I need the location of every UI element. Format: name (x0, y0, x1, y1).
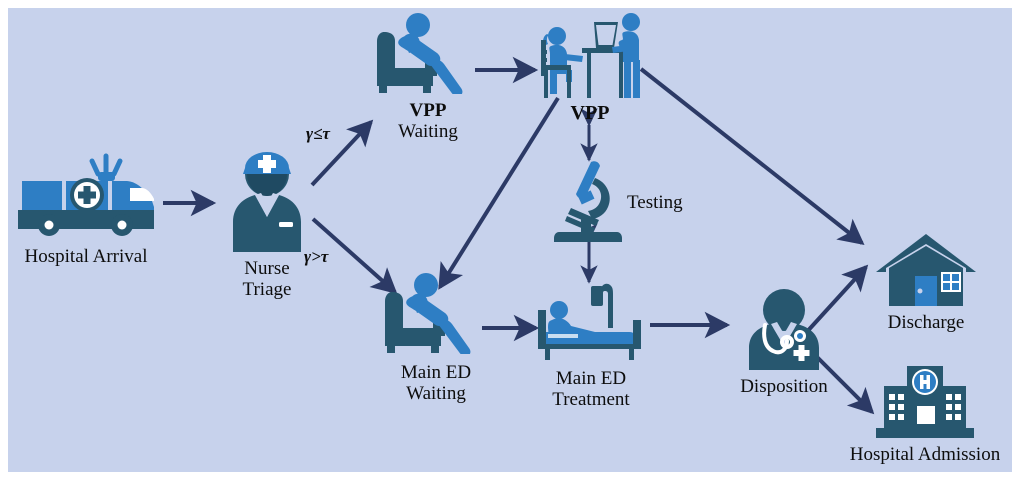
recliner-chair-icon (376, 12, 480, 94)
node-label-discharge: Discharge (888, 312, 965, 333)
label-text-line1: Main ED (552, 368, 629, 389)
node-label-testing: Testing (627, 192, 683, 214)
provider-desk-icon (538, 10, 642, 102)
label-text-line2: Triage (243, 279, 292, 300)
node-label-nurse-triage: Nurse Triage (243, 258, 292, 301)
node-label-vpp: VPP (571, 102, 610, 124)
microscope-icon (551, 160, 629, 242)
label-text: Disposition (740, 376, 828, 397)
label-text: Discharge (888, 312, 965, 333)
node-vpp[interactable]: VPP (534, 10, 646, 140)
node-label-hospital-arrival: Hospital Arrival (25, 246, 148, 267)
label-text: Hospital Admission (850, 444, 1000, 465)
node-nurse-triage[interactable]: Nurse Triage (212, 140, 322, 300)
doctor-icon (741, 288, 827, 370)
label-text: Hospital Arrival (25, 246, 148, 267)
hospital-building-icon (872, 362, 978, 440)
node-label-hospital-admission: Hospital Admission (850, 444, 1000, 465)
label-text-line1: Main ED (401, 362, 471, 383)
house-icon (875, 232, 977, 306)
label-text: Waiting (398, 121, 458, 142)
node-label-main-ed-treatment: Main ED Treatment (552, 368, 629, 411)
node-hospital-arrival[interactable]: Hospital Arrival (8, 150, 164, 280)
ambulance-icon (18, 150, 154, 236)
label-text-line1: Nurse (243, 258, 292, 279)
node-main-ed-treatment[interactable]: Main ED Treatment (532, 282, 650, 432)
label-text-line2: Treatment (552, 389, 629, 410)
node-testing[interactable]: Testing (545, 160, 635, 246)
label-text-bold: VPP (398, 100, 458, 121)
node-main-ed-waiting[interactable]: Main ED Waiting (378, 272, 494, 422)
node-label-vpp-waiting: VPP Waiting (398, 100, 458, 143)
node-label-main-ed-waiting: Main ED Waiting (401, 362, 471, 405)
nurse-icon (221, 140, 313, 252)
node-discharge[interactable]: Discharge (856, 232, 996, 342)
node-hospital-admission[interactable]: Hospital Admission (845, 362, 1005, 472)
node-label-disposition: Disposition (740, 376, 828, 397)
edge-vpp-to-discharge (641, 69, 862, 243)
hospital-bed-icon (535, 282, 647, 360)
recliner-chair-icon (384, 272, 488, 354)
node-vpp-waiting[interactable]: VPP Waiting (370, 12, 486, 152)
label-text-bold: VPP (571, 102, 610, 124)
diagram-canvas: γ≤τ γ>τ (0, 0, 1020, 486)
label-text-line2: Waiting (401, 383, 471, 404)
node-disposition[interactable]: Disposition (722, 288, 846, 412)
